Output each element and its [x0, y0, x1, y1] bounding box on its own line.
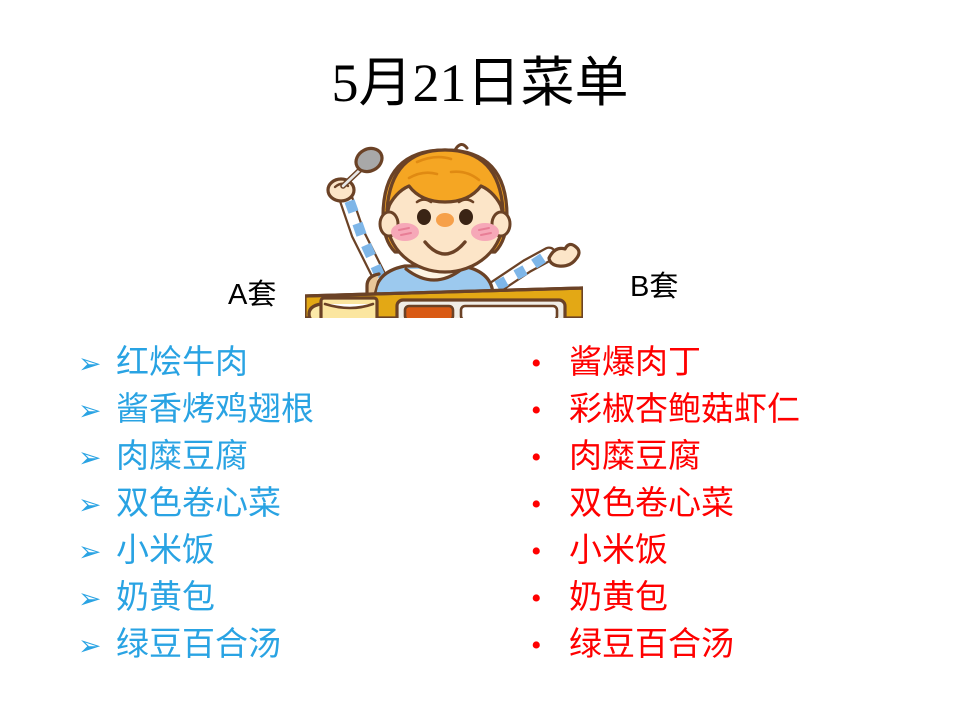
- list-item: • 小米饭: [525, 528, 945, 575]
- list-item: • 彩椒杏鲍菇虾仁: [525, 387, 945, 434]
- dot-bullet-icon: •: [525, 575, 569, 622]
- arrow-bullet-icon: ➢: [78, 435, 116, 482]
- page-title: 5月21日菜单: [0, 52, 960, 114]
- dot-bullet-icon: •: [525, 434, 569, 481]
- arrow-bullet-icon: ➢: [78, 388, 116, 435]
- menu-slide: 5月21日菜单: [0, 0, 960, 720]
- menu-item-label: 酱香烤鸡翅根: [116, 387, 314, 434]
- menu-item-label: 小米饭: [569, 528, 668, 575]
- set-a-menu-list: ➢ 红烩牛肉 ➢ 酱香烤鸡翅根 ➢ 肉糜豆腐 ➢ 双色卷心菜 ➢ 小米饭 ➢ 奶…: [78, 340, 498, 669]
- list-item: • 酱爆肉丁: [525, 340, 945, 387]
- set-b-header: B套: [630, 270, 678, 304]
- dot-bullet-icon: •: [525, 622, 569, 669]
- arrow-bullet-icon: ➢: [78, 482, 116, 529]
- set-b-column: • 酱爆肉丁 • 彩椒杏鲍菇虾仁 • 肉糜豆腐 • 双色卷心菜 • 小米饭 • …: [525, 340, 945, 669]
- list-item: ➢ 酱香烤鸡翅根: [78, 387, 498, 434]
- menu-item-label: 红烩牛肉: [116, 340, 248, 387]
- list-item: • 双色卷心菜: [525, 481, 945, 528]
- list-item: ➢ 肉糜豆腐: [78, 434, 498, 481]
- dot-bullet-icon: •: [525, 528, 569, 575]
- menu-item-label: 酱爆肉丁: [569, 340, 701, 387]
- dot-bullet-icon: •: [525, 481, 569, 528]
- list-item: ➢ 红烩牛肉: [78, 340, 498, 387]
- arrow-bullet-icon: ➢: [78, 341, 116, 388]
- menu-item-label: 肉糜豆腐: [569, 434, 701, 481]
- dot-bullet-icon: •: [525, 340, 569, 387]
- menu-item-label: 双色卷心菜: [569, 481, 734, 528]
- arrow-bullet-icon: ➢: [78, 529, 116, 576]
- menu-item-label: 奶黄包: [569, 575, 668, 622]
- list-item: ➢ 绿豆百合汤: [78, 622, 498, 669]
- set-a-column: ➢ 红烩牛肉 ➢ 酱香烤鸡翅根 ➢ 肉糜豆腐 ➢ 双色卷心菜 ➢ 小米饭 ➢ 奶…: [78, 340, 498, 669]
- menu-item-label: 彩椒杏鲍菇虾仁: [569, 387, 800, 434]
- list-item: ➢ 奶黄包: [78, 575, 498, 622]
- list-item: • 绿豆百合汤: [525, 622, 945, 669]
- list-item: ➢ 小米饭: [78, 528, 498, 575]
- list-item: ➢ 双色卷心菜: [78, 481, 498, 528]
- dot-bullet-icon: •: [525, 387, 569, 434]
- list-item: • 肉糜豆腐: [525, 434, 945, 481]
- menu-item-label: 奶黄包: [116, 575, 215, 622]
- set-a-header: A套: [228, 278, 276, 312]
- arrow-bullet-icon: ➢: [78, 576, 116, 623]
- child-eating-meal-icon: [305, 138, 583, 318]
- menu-item-label: 绿豆百合汤: [116, 622, 281, 669]
- menu-item-label: 肉糜豆腐: [116, 434, 248, 481]
- menu-item-label: 小米饭: [116, 528, 215, 575]
- list-item: • 奶黄包: [525, 575, 945, 622]
- menu-item-label: 双色卷心菜: [116, 481, 281, 528]
- arrow-bullet-icon: ➢: [78, 623, 116, 670]
- child-eating-meal-illustration: [305, 138, 583, 318]
- menu-item-label: 绿豆百合汤: [569, 622, 734, 669]
- set-b-menu-list: • 酱爆肉丁 • 彩椒杏鲍菇虾仁 • 肉糜豆腐 • 双色卷心菜 • 小米饭 • …: [525, 340, 945, 669]
